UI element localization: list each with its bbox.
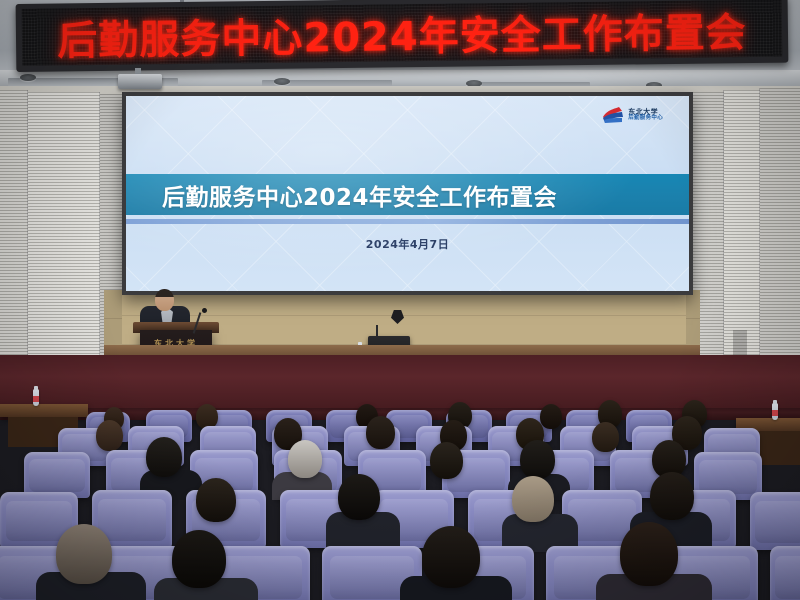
presentation-slide: 东北大学 后勤服务中心 后勤服务中心2024年安全工作布置会 2024年4月7日: [126, 96, 689, 291]
podium-microphone-head: [202, 308, 207, 313]
side-table-left: [0, 404, 88, 417]
led-banner: 后勤服务中心2024年安全工作布置会: [16, 0, 789, 72]
bottle-label: [33, 396, 39, 402]
logo-dept-name: 后勤服务中心: [628, 116, 663, 122]
attendee-head: [172, 530, 226, 588]
bottle-cap: [34, 386, 38, 390]
ceiling-projector: [118, 74, 162, 89]
attendee-head: [196, 478, 236, 522]
neu-logo-icon: [602, 106, 624, 124]
attendee-head: [96, 420, 123, 451]
attendee-head: [366, 416, 395, 449]
led-banner-text: 后勤服务中心2024年安全工作布置会: [57, 0, 747, 66]
attendee-head: [56, 524, 112, 584]
attendee-head: [338, 474, 380, 520]
slide-logo-text: 东北大学 后勤服务中心: [628, 109, 663, 122]
presenter-head: [155, 289, 174, 311]
attendee-head: [520, 440, 555, 479]
slide-title-band: 后勤服务中心2024年安全工作布置会: [126, 174, 689, 215]
attendee-head: [540, 404, 562, 429]
seat: [750, 492, 800, 550]
ceiling-light: [20, 74, 36, 81]
attendee-head: [146, 437, 182, 477]
water-bottle: [772, 403, 778, 420]
projection-screen: 东北大学 后勤服务中心 后勤服务中心2024年安全工作布置会 2024年4月7日: [122, 92, 693, 295]
slide-logo: 东北大学 后勤服务中心: [602, 106, 663, 124]
attendee-head: [650, 472, 694, 520]
wall-beige-band: [686, 290, 700, 345]
bottle-cap: [773, 400, 777, 404]
slide-title-rule: [126, 219, 689, 224]
stage-floor: [104, 345, 700, 355]
attendee-head: [288, 440, 322, 478]
slide-date: 2024年4月7日: [126, 236, 689, 252]
bottle-label: [772, 410, 778, 416]
attendee-head: [430, 442, 463, 479]
seat: [770, 546, 800, 600]
conference-hall-photo: 后勤服务中心2024年安全工作布置会: [0, 0, 800, 600]
wall-beige-band: [104, 290, 122, 345]
slide-title: 后勤服务中心2024年安全工作布置会: [162, 178, 557, 212]
attendee-head: [592, 422, 619, 452]
water-bottle: [33, 389, 39, 406]
led-banner-screen: 后勤服务中心2024年安全工作布置会: [22, 0, 783, 66]
ceiling-light: [274, 78, 290, 85]
attendee-head: [620, 522, 678, 586]
attendee-head: [422, 526, 480, 588]
attendee-head: [512, 476, 554, 522]
